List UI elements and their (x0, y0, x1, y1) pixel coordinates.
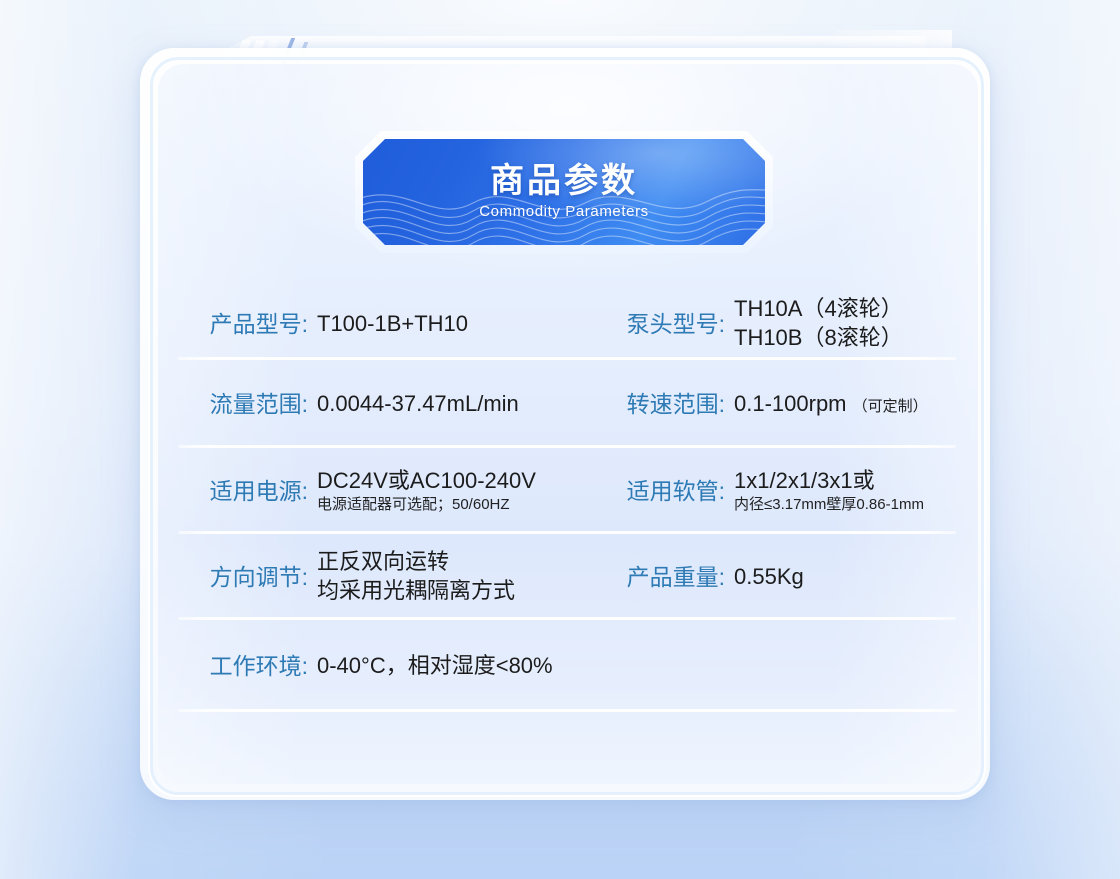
banner-text-group: 商品参数 Commodity Parameters (363, 139, 765, 245)
spec-cell: 产品型号: T100-1B+TH10 (178, 310, 593, 339)
spec-value: DC24V或AC100-240V 电源适配器可选配；50/60HZ (317, 467, 536, 516)
banner-plate: 商品参数 Commodity Parameters (363, 139, 765, 245)
spec-cell: 产品重量: 0.55Kg (593, 563, 956, 592)
spec-row: 产品型号: T100-1B+TH10 泵头型号: TH10A（4滚轮） TH10… (178, 288, 956, 360)
spec-cell: 适用软管: 1x1/2x1/3x1或 内径≤3.17mm壁厚0.86-1mm (593, 467, 956, 516)
spec-value: 0-40°C，相对湿度<80% (317, 652, 553, 681)
spec-cell: 泵头型号: TH10A（4滚轮） TH10B（8滚轮） (593, 295, 956, 352)
specification-table: 产品型号: T100-1B+TH10 泵头型号: TH10A（4滚轮） TH10… (178, 288, 956, 712)
spec-value-main: 0.1-100rpm (734, 391, 847, 416)
spec-cell: 方向调节: 正反双向运转 均采用光耦隔离方式 (178, 548, 593, 605)
spec-value: 0.55Kg (734, 563, 804, 592)
spec-label: 产品型号: (182, 310, 308, 339)
spec-label: 适用电源: (182, 477, 308, 506)
spec-value: TH10A（4滚轮） TH10B（8滚轮） (734, 295, 903, 352)
spec-value-main: 1x1/2x1/3x1或 (734, 468, 875, 493)
spec-value: 1x1/2x1/3x1或 内径≤3.17mm壁厚0.86-1mm (734, 467, 924, 516)
spec-label: 方向调节: (182, 563, 308, 592)
spec-row: 方向调节: 正反双向运转 均采用光耦隔离方式 产品重量: 0.55Kg (178, 534, 956, 620)
spec-cell: 转速范围: 0.1-100rpm （可定制） (593, 390, 956, 419)
banner-title: 商品参数 (490, 163, 638, 200)
spec-label: 适用软管: (595, 477, 725, 506)
spec-row: 适用电源: DC24V或AC100-240V 电源适配器可选配；50/60HZ … (178, 448, 956, 534)
spec-label: 泵头型号: (595, 310, 725, 339)
spec-value: 0.0044-37.47mL/min (317, 390, 519, 419)
spec-value: T100-1B+TH10 (317, 310, 468, 339)
banner-subtitle: Commodity Parameters (479, 203, 649, 221)
spec-value-suffix: （可定制） (853, 398, 928, 415)
spec-cell: 流量范围: 0.0044-37.47mL/min (178, 390, 593, 419)
decor-right-bar (822, 30, 952, 48)
spec-label: 转速范围: (595, 390, 725, 419)
spec-value: 正反双向运转 均采用光耦隔离方式 (317, 548, 515, 605)
spec-value: 0.1-100rpm （可定制） (734, 390, 928, 419)
spec-value-line-2: 均采用光耦隔离方式 (317, 577, 515, 606)
row-divider (178, 709, 956, 712)
spec-cell: 适用电源: DC24V或AC100-240V 电源适配器可选配；50/60HZ (178, 467, 593, 516)
product-parameters-page: 商品参数 Commodity Parameters 产品型号: T100-1B+… (0, 0, 1120, 879)
section-banner: 商品参数 Commodity Parameters (355, 131, 773, 253)
spec-label: 流量范围: (182, 390, 308, 419)
spec-cell: 工作环境: 0-40°C，相对湿度<80% (178, 652, 593, 681)
spec-value-line-1: TH10A（4滚轮） (734, 295, 903, 324)
spec-value-line-1: 正反双向运转 (317, 548, 515, 577)
spec-label: 工作环境: (182, 652, 308, 681)
spec-value-main: DC24V或AC100-240V (317, 468, 536, 493)
spec-value-line-2: TH10B（8滚轮） (734, 324, 903, 353)
spec-value-sub: 内径≤3.17mm壁厚0.86-1mm (734, 495, 924, 515)
spec-row: 流量范围: 0.0044-37.47mL/min 转速范围: 0.1-100rp… (178, 360, 956, 448)
spec-label: 产品重量: (595, 563, 725, 592)
spec-value-sub: 电源适配器可选配；50/60HZ (317, 495, 536, 515)
spec-row: 工作环境: 0-40°C，相对湿度<80% (178, 620, 956, 712)
